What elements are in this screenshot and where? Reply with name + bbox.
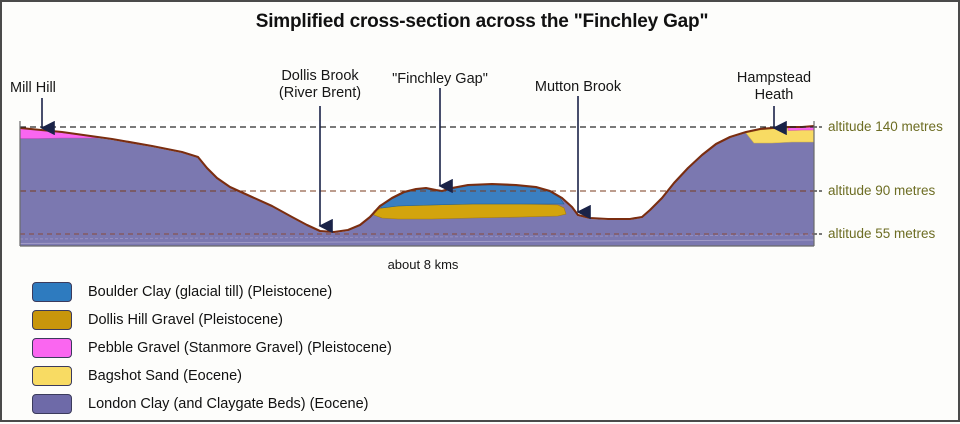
callout-label-mutton-brook: Mutton Brook	[508, 79, 648, 96]
legend-item-pebble-gravel[interactable]: Pebble Gravel (Stanmore Gravel) (Pleisto…	[32, 334, 392, 362]
scale-bar-label: about 8 kms	[2, 257, 844, 272]
legend-label-boulder-clay: Boulder Clay (glacial till) (Pleistocene…	[88, 284, 332, 300]
legend-swatch-pebble-gravel	[32, 338, 72, 358]
legend-item-london-clay[interactable]: London Clay (and Claygate Beds) (Eocene)	[32, 390, 392, 418]
callout-label-finchley-gap: "Finchley Gap"	[380, 71, 500, 88]
legend-swatch-boulder-clay	[32, 282, 72, 302]
legend-swatch-bagshot-sand	[32, 366, 72, 386]
diagram-frame: Simplified cross-section across the "Fin…	[0, 0, 960, 422]
legend-label-london-clay: London Clay (and Claygate Beds) (Eocene)	[88, 396, 369, 412]
altitude-label-55: altitude 55 metres	[828, 226, 935, 241]
callout-label-dollis-brook: Dollis Brook (River Brent)	[240, 68, 400, 102]
legend: Boulder Clay (glacial till) (Pleistocene…	[32, 278, 392, 418]
callout-label-hampstead-heath: Hampstead Heath	[714, 70, 834, 104]
altitude-label-90: altitude 90 metres	[828, 183, 935, 198]
legend-label-pebble-gravel: Pebble Gravel (Stanmore Gravel) (Pleisto…	[88, 340, 392, 356]
legend-item-boulder-clay[interactable]: Boulder Clay (glacial till) (Pleistocene…	[32, 278, 392, 306]
legend-swatch-dollis-hill-gravel	[32, 310, 72, 330]
callout-label-mill-hill: Mill Hill	[10, 80, 56, 97]
legend-item-dollis-hill-gravel[interactable]: Dollis Hill Gravel (Pleistocene)	[32, 306, 392, 334]
legend-item-bagshot-sand[interactable]: Bagshot Sand (Eocene)	[32, 362, 392, 390]
legend-label-bagshot-sand: Bagshot Sand (Eocene)	[88, 368, 242, 384]
legend-swatch-london-clay	[32, 394, 72, 414]
dollis-hill-gravel-layer	[374, 204, 566, 219]
altitude-label-140: altitude 140 metres	[828, 119, 943, 134]
legend-label-dollis-hill-gravel: Dollis Hill Gravel (Pleistocene)	[88, 312, 283, 328]
